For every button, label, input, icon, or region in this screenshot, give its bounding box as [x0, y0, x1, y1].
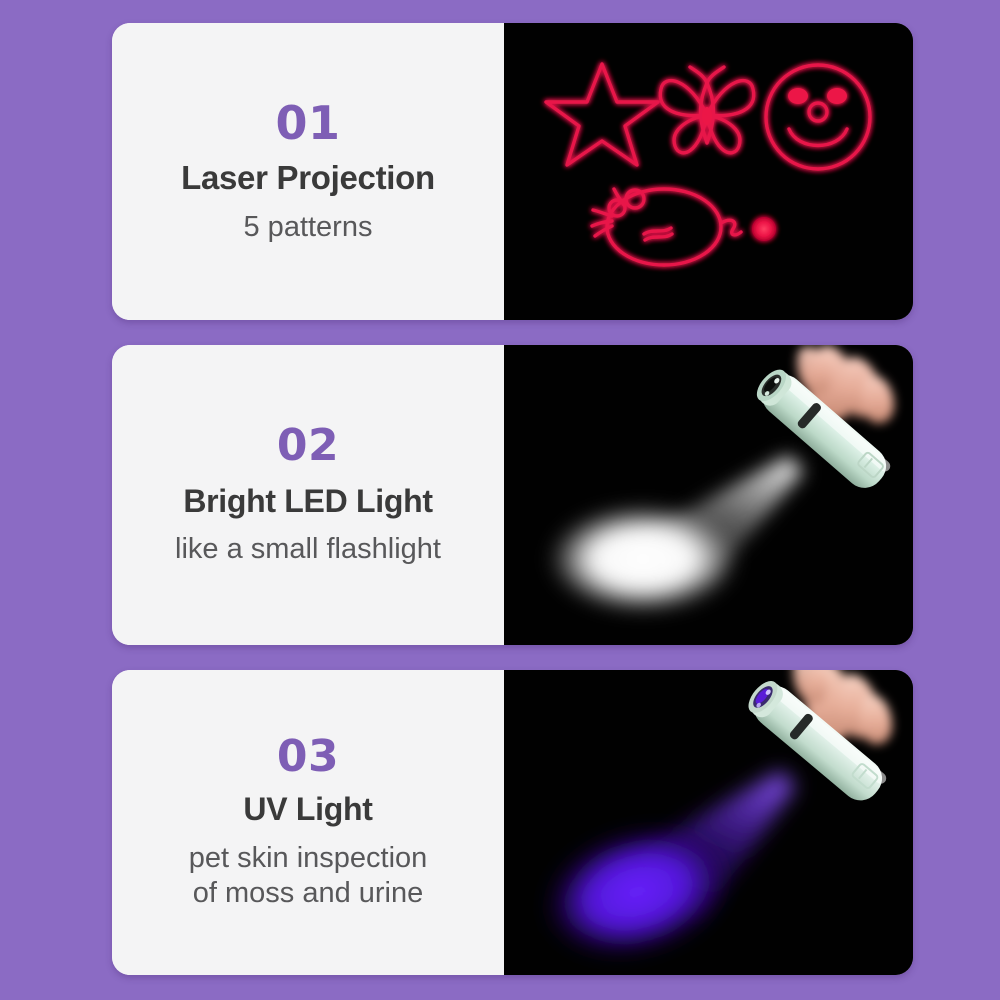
laser-pattern-dot [752, 217, 776, 241]
feature-card-led-light: 02 Bright LED Light like a small flashli… [112, 345, 913, 645]
laser-smiley-eye-left [788, 88, 808, 104]
led-beam-panel [504, 345, 913, 645]
feature-card-uv-light: 03 UV Light pet skin inspection of moss … [112, 670, 913, 975]
led-light-pool [547, 504, 739, 614]
laser-smiley-eye-right [827, 88, 847, 104]
feature-card-laser-projection: 01 Laser Projection 5 patterns [112, 23, 913, 320]
step-number: 03 [277, 734, 339, 780]
feature-title: UV Light [243, 792, 372, 828]
feature-subtitle: like a small flashlight [175, 532, 441, 566]
feature-subtitle: 5 patterns [244, 210, 373, 244]
feature-subtitle-line-1: pet skin inspection [189, 841, 428, 876]
uv-beam-panel [504, 670, 913, 975]
laser-butterfly-body-dot [702, 107, 712, 125]
uv-beam-photo [504, 670, 913, 975]
feature-text-pane: 01 Laser Projection 5 patterns [112, 23, 504, 320]
feature-text-pane: 03 UV Light pet skin inspection of moss … [112, 670, 504, 975]
laser-pattern-panel [504, 23, 913, 320]
product-feature-infographic: 01 Laser Projection 5 patterns [0, 0, 1000, 1000]
laser-patterns-illustration [504, 23, 913, 320]
feature-title: Bright LED Light [183, 484, 432, 520]
step-number: 02 [277, 423, 339, 469]
step-number: 01 [275, 99, 340, 147]
feature-subtitle: pet skin inspection of moss and urine [189, 841, 428, 912]
led-beam-photo [504, 345, 913, 645]
feature-text-pane: 02 Bright LED Light like a small flashli… [112, 345, 504, 645]
feature-title: Laser Projection [181, 160, 435, 197]
feature-subtitle-line-2: of moss and urine [189, 876, 428, 911]
